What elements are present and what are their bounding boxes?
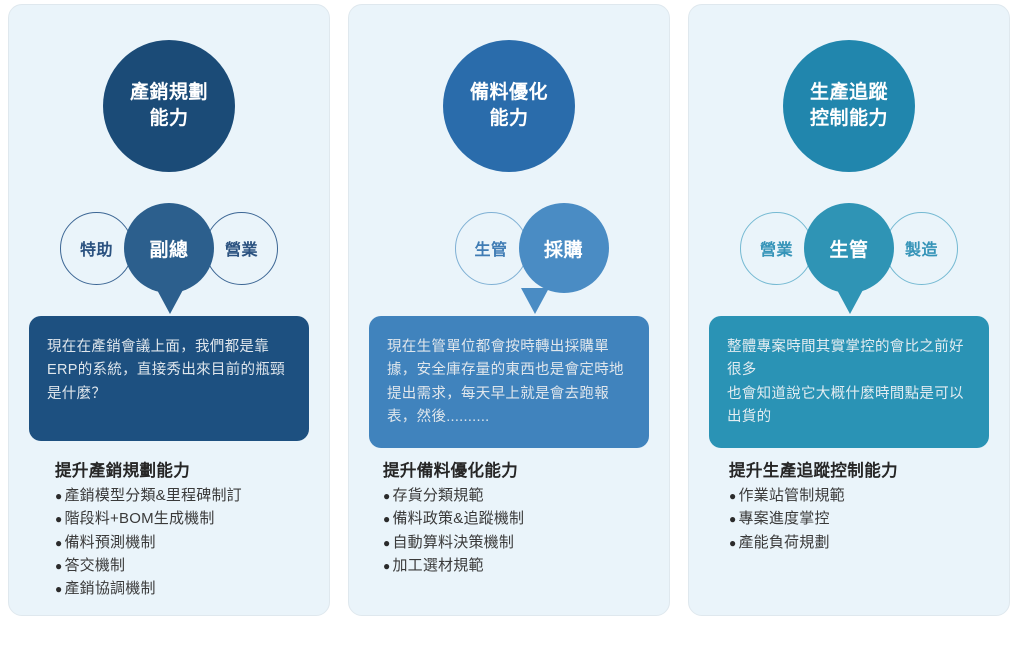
outcome-item-label: 產能負荷規劃 (738, 531, 829, 554)
bullet-icon: ● (55, 583, 62, 595)
outcome-item-label: 存貨分類規範 (392, 484, 483, 507)
capability-title: 備料優化能力 (470, 80, 548, 132)
role-label: 採購 (544, 235, 583, 262)
bullet-icon: ● (729, 490, 736, 502)
outcome-block: 提升生產追蹤控制能力●作業站管制規範●專案進度掌控●產能負荷規劃 (729, 457, 995, 554)
outcome-item-label: 階段料+BOM生成機制 (64, 507, 214, 530)
outcome-item-label: 專案進度掌控 (738, 507, 829, 530)
role-circle-row: 特助副總營業 (9, 203, 329, 293)
role-circle-outline[interactable]: 營業 (740, 212, 813, 285)
bullet-icon: ● (55, 537, 62, 549)
outcome-list-item: ●作業站管制規範 (729, 484, 995, 507)
quote-bubble: 現在在產銷會議上面，我們都是靠ERP的系統，直接秀出來目前的瓶頸是什麼？ (29, 316, 309, 441)
quote-text: 整體專案時間其實掌控的會比之前好很多 也會知道說它大概什麼時間點是可以出貨的 (727, 336, 971, 430)
capability-title: 生產追蹤控制能力 (810, 80, 888, 132)
role-label: 生管 (829, 235, 868, 262)
role-label: 營業 (225, 236, 258, 260)
outcome-list-item: ●專案進度掌控 (729, 507, 995, 530)
bullet-icon: ● (55, 560, 62, 572)
role-circle-outline[interactable]: 製造 (885, 212, 958, 285)
outcome-list-item: ●加工選材規範 (383, 554, 655, 577)
role-label: 特助 (80, 236, 113, 260)
capability-title-line-2: 能力 (130, 106, 208, 132)
outcome-item-label: 作業站管制規範 (738, 484, 844, 507)
outcome-list: ●存貨分類規範●備料政策&追蹤機制●自動算料決策機制●加工選材規範 (383, 484, 655, 577)
bullet-icon: ● (383, 560, 390, 572)
outcome-list: ●產銷模型分類&里程碑制訂●階段料+BOM生成機制●備料預測機制●答交機制●產銷… (55, 484, 315, 600)
capability-circle: 備料優化能力 (443, 40, 575, 172)
outcome-item-label: 備料預測機制 (64, 531, 155, 554)
outcome-list-item: ●產銷協調機制 (55, 577, 315, 600)
bullet-icon: ● (55, 490, 62, 502)
capability-title-line-2: 能力 (470, 106, 548, 132)
outcome-title: 提升產銷規劃能力 (55, 457, 315, 481)
role-circle-outline[interactable]: 生管 (455, 212, 528, 285)
outcome-list-item: ●備料預測機制 (55, 531, 315, 554)
capability-title-line-1: 生產追蹤 (810, 80, 888, 106)
outcome-item-label: 加工選材規範 (392, 554, 483, 577)
role-label: 生管 (474, 236, 507, 260)
outcome-item-label: 產銷模型分類&里程碑制訂 (64, 484, 241, 507)
outcome-list-item: ●備料政策&追蹤機制 (383, 507, 655, 530)
outcome-title: 提升生產追蹤控制能力 (729, 457, 995, 481)
role-circle-outline[interactable]: 營業 (205, 212, 278, 285)
outcome-item-label: 產銷協調機制 (64, 577, 155, 600)
outcome-list-item: ●階段料+BOM生成機制 (55, 507, 315, 530)
outcome-list: ●作業站管制規範●專案進度掌控●產能負荷規劃 (729, 484, 995, 554)
role-circle-filled[interactable]: 生管 (804, 203, 894, 293)
capability-title-line-2: 控制能力 (810, 106, 888, 132)
bullet-icon: ● (383, 513, 390, 525)
quote-bubble: 整體專案時間其實掌控的會比之前好很多 也會知道說它大概什麼時間點是可以出貨的 (709, 316, 989, 448)
quote-text: 現在在產銷會議上面，我們都是靠ERP的系統，直接秀出來目前的瓶頸是什麼？ (47, 336, 291, 406)
capability-card: 備料優化能力生管採購現在生管單位都會按時轉出採購單據，安全庫存量的東西也是會定時… (348, 4, 670, 616)
bullet-icon: ● (729, 513, 736, 525)
outcome-list-item: ●產能負荷規劃 (729, 531, 995, 554)
outcome-list-item: ●存貨分類規範 (383, 484, 655, 507)
role-circle-filled[interactable]: 採購 (519, 203, 609, 293)
role-circle-outline[interactable]: 特助 (60, 212, 133, 285)
outcome-list-item: ●答交機制 (55, 554, 315, 577)
bullet-icon: ● (55, 513, 62, 525)
role-label: 副總 (149, 235, 188, 262)
capability-card: 生產追蹤控制能力營業生管製造整體專案時間其實掌控的會比之前好很多 也會知道說它大… (688, 4, 1010, 616)
outcome-list-item: ●產銷模型分類&里程碑制訂 (55, 484, 315, 507)
bullet-icon: ● (383, 490, 390, 502)
role-circle-row: 營業生管製造 (689, 203, 1009, 293)
role-label: 營業 (760, 236, 793, 260)
capability-title-line-1: 產銷規劃 (130, 80, 208, 106)
role-circle-filled[interactable]: 副總 (124, 203, 214, 293)
quote-text: 現在生管單位都會按時轉出採購單據，安全庫存量的東西也是會定時地提出需求，每天早上… (387, 336, 631, 430)
outcome-item-label: 備料政策&追蹤機制 (392, 507, 524, 530)
capability-circle: 產銷規劃能力 (103, 40, 235, 172)
role-circle-row: 生管採購 (349, 203, 670, 293)
bullet-icon: ● (729, 537, 736, 549)
quote-bubble: 現在生管單位都會按時轉出採購單據，安全庫存量的東西也是會定時地提出需求，每天早上… (369, 316, 649, 448)
outcome-list-item: ●自動算料決策機制 (383, 531, 655, 554)
capability-circle: 生產追蹤控制能力 (783, 40, 915, 172)
speech-bubble-tail (521, 288, 549, 314)
outcome-block: 提升備料優化能力●存貨分類規範●備料政策&追蹤機制●自動算料決策機制●加工選材規… (383, 457, 655, 577)
capability-title-line-1: 備料優化 (470, 80, 548, 106)
outcome-item-label: 自動算料決策機制 (392, 531, 514, 554)
outcome-block: 提升產銷規劃能力●產銷模型分類&里程碑制訂●階段料+BOM生成機制●備料預測機制… (55, 457, 315, 600)
bullet-icon: ● (383, 537, 390, 549)
capability-card: 產銷規劃能力特助副總營業現在在產銷會議上面，我們都是靠ERP的系統，直接秀出來目… (8, 4, 330, 616)
outcome-title: 提升備料優化能力 (383, 457, 655, 481)
role-label: 製造 (905, 236, 938, 260)
capability-title: 產銷規劃能力 (130, 80, 208, 132)
capability-cards-board: 產銷規劃能力特助副總營業現在在產銷會議上面，我們都是靠ERP的系統，直接秀出來目… (0, 0, 1028, 645)
outcome-item-label: 答交機制 (64, 554, 125, 577)
